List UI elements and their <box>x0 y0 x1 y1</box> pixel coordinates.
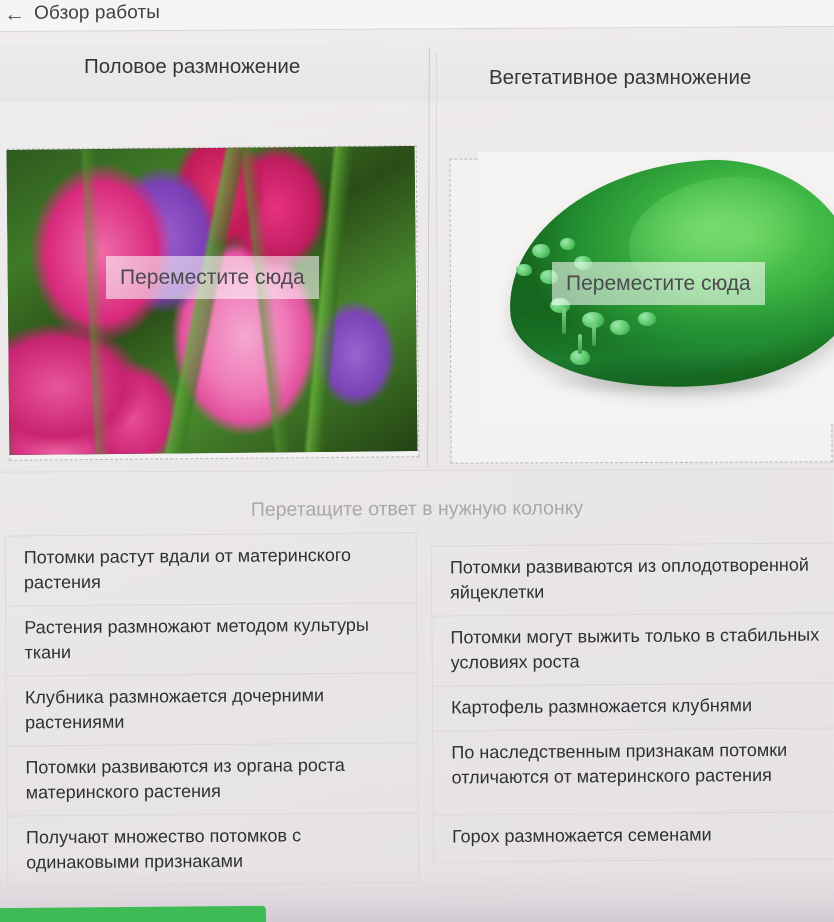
leaf-plantlet <box>610 320 630 335</box>
leaf-plantlet <box>638 312 656 326</box>
answer-chip[interactable]: Потомки развиваются из органа роста мате… <box>6 743 419 816</box>
tulips-foliage-layer <box>7 146 418 455</box>
column-divider-secondary <box>436 52 437 467</box>
column-divider <box>427 48 430 468</box>
app-top-bar: ← Обзор работы <box>0 0 834 32</box>
leaf-plantlet-stem <box>578 334 582 354</box>
answer-chip[interactable]: По наследственным признакам потомки отли… <box>432 728 834 815</box>
primary-action-button[interactable] <box>0 906 266 922</box>
category-title-right: Вегетативное размножение <box>489 66 751 90</box>
tulips-photo <box>7 146 418 455</box>
horizontal-divider <box>0 468 834 472</box>
drop-hint-right-text: Переместите сюда <box>566 272 751 295</box>
leaf-plantlet <box>516 264 532 276</box>
answer-chip[interactable]: Клубника размножается дочерними растения… <box>6 673 419 746</box>
leaf-plantlet-stem <box>592 324 596 346</box>
drop-hint-left: Переместите сюда <box>106 256 319 299</box>
instruction-text: Перетащите ответ в нужную колонку <box>0 496 834 523</box>
answer-chip[interactable]: Получают множество потомков с одинаковым… <box>7 813 420 886</box>
leaf-plantlet <box>532 244 550 258</box>
drop-hint-left-text: Переместите сюда <box>120 266 305 289</box>
answer-bank-left: Потомки растут вдали от материнского рас… <box>5 532 420 886</box>
answer-chip[interactable]: Потомки растут вдали от материнского рас… <box>5 532 418 606</box>
drop-hint-right: Переместите сюда <box>552 262 765 305</box>
answer-chip[interactable]: Потомки развиваются из оплодотворенной я… <box>431 542 834 616</box>
answer-chip[interactable]: Растения размножают методом культуры тка… <box>5 603 418 676</box>
category-title-left: Половое размножение <box>84 55 300 79</box>
leaf-plantlet-stem <box>562 308 566 334</box>
answer-chip[interactable]: Картофель размножается клубнями <box>432 683 834 731</box>
page-title: Обзор работы <box>34 2 160 25</box>
answer-chip[interactable]: Потомки могут выжить только в стабильных… <box>431 613 834 686</box>
screen-root: ← Обзор работы Половое размножение Вегет… <box>0 0 834 922</box>
leaf-plantlet <box>560 238 575 250</box>
back-arrow-icon[interactable]: ← <box>4 3 25 24</box>
category-header-row: Половое размножение Вегетативное размнож… <box>0 44 834 102</box>
answer-bank-right: Потомки развиваются из оплодотворенной я… <box>431 542 834 862</box>
answer-chip[interactable]: Горох размножается семенами <box>433 812 834 862</box>
